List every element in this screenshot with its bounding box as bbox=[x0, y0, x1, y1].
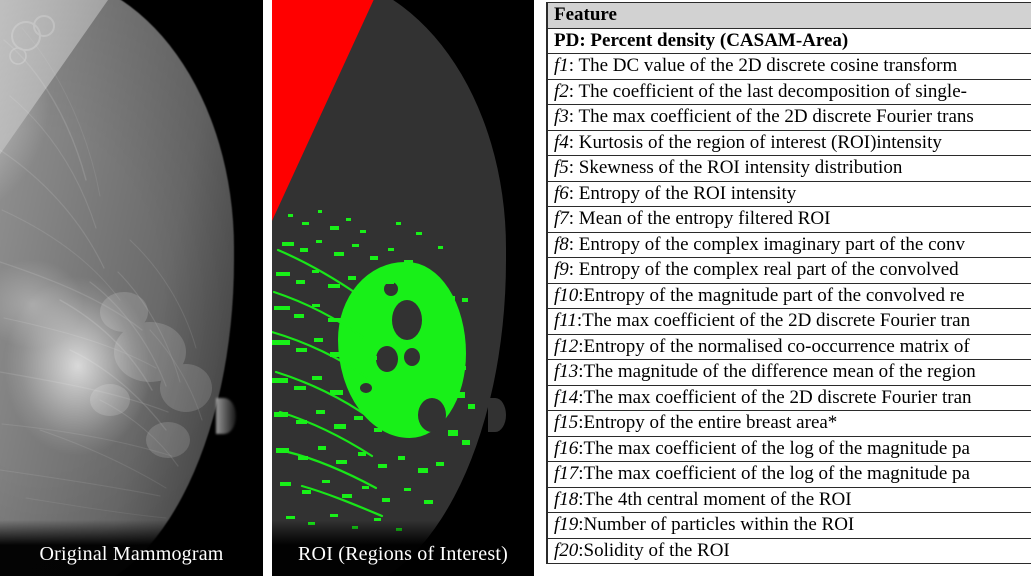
feature-table-body: PD: Percent density (CASAM-Area)f1: The … bbox=[547, 28, 1031, 564]
feature-id-f14: f14 bbox=[554, 387, 578, 408]
feature-cell-f16: f16:The max coefficient of the log of th… bbox=[547, 436, 1031, 462]
feature-id-f18: f18 bbox=[554, 489, 578, 510]
feature-cell-f14: f14:The max coefficient of the 2D discre… bbox=[547, 385, 1031, 411]
feature-cell-f13: f13:The magnitude of the difference mean… bbox=[547, 360, 1031, 386]
fibroglandular-texture-overlay bbox=[0, 0, 263, 576]
feature-id-f1: f1 bbox=[554, 55, 569, 76]
feature-description-f17: :The max coefficient of the log of the m… bbox=[578, 463, 970, 484]
table-row: f6: Entropy of the ROI intensity bbox=[547, 181, 1031, 207]
table-row: f9: Entropy of the complex real part of … bbox=[547, 258, 1031, 284]
column-header-feature: Feature bbox=[547, 3, 1031, 29]
table-header-row: Feature bbox=[547, 3, 1031, 29]
feature-cell-f20: f20:Solidity of the ROI bbox=[547, 538, 1031, 564]
feature-description-f11: :The max coefficient of the 2D discrete … bbox=[577, 310, 970, 331]
table-row: f14:The max coefficient of the 2D discre… bbox=[547, 385, 1031, 411]
feature-id-f3: f3 bbox=[554, 106, 569, 127]
feature-id-f13: f13 bbox=[554, 361, 578, 382]
table-row: PD: Percent density (CASAM-Area) bbox=[547, 28, 1031, 54]
table-row: f18:The 4th central moment of the ROI bbox=[547, 487, 1031, 513]
table-row: f20:Solidity of the ROI bbox=[547, 538, 1031, 564]
feature-id-f20: f20 bbox=[554, 540, 578, 561]
feature-description-f4: : Kurtosis of the region of interest (RO… bbox=[569, 132, 942, 153]
table-row: f15:Entropy of the entire breast area* bbox=[547, 411, 1031, 437]
feature-description-f1: : The DC value of the 2D discrete cosine… bbox=[569, 55, 958, 76]
panel-original-mammogram: Original Mammogram bbox=[0, 0, 263, 576]
feature-description-f3: : The max coefficient of the 2D discrete… bbox=[569, 106, 974, 127]
feature-description-f7: : Mean of the entropy filtered ROI bbox=[569, 208, 831, 229]
table-row: f4: Kurtosis of the region of interest (… bbox=[547, 130, 1031, 156]
feature-id-f6: f6 bbox=[554, 183, 569, 204]
feature-description-f14: :The max coefficient of the 2D discrete … bbox=[578, 387, 971, 408]
feature-description-f16: :The max coefficient of the log of the m… bbox=[578, 438, 970, 459]
feature-id-f9: f9 bbox=[554, 259, 569, 280]
table-row: f19:Number of particles within the ROI bbox=[547, 513, 1031, 539]
table-row: f16:The max coefficient of the log of th… bbox=[547, 436, 1031, 462]
feature-cell-f9: f9: Entropy of the complex real part of … bbox=[547, 258, 1031, 284]
feature-cell-f11: f11:The max coefficient of the 2D discre… bbox=[547, 309, 1031, 335]
feature-id-f2: f2 bbox=[554, 81, 569, 102]
feature-id-f11: f11 bbox=[554, 310, 577, 331]
feature-cell-f12: f12:Entropy of the normalised co-occurre… bbox=[547, 334, 1031, 360]
feature-cell-PD: PD: Percent density (CASAM-Area) bbox=[547, 28, 1031, 54]
feature-description-f15: :Entropy of the entire breast area* bbox=[578, 412, 837, 433]
feature-description-f19: :Number of particles within the ROI bbox=[578, 514, 854, 535]
feature-id-f5: f5 bbox=[554, 157, 569, 178]
feature-cell-f10: f10:Entropy of the magnitude part of the… bbox=[547, 283, 1031, 309]
feature-id-f7: f7 bbox=[554, 208, 569, 229]
table-row: f7: Mean of the entropy filtered ROI bbox=[547, 207, 1031, 233]
feature-cell-f2: f2: The coefficient of the last decompos… bbox=[547, 79, 1031, 105]
feature-description-f12: :Entropy of the normalised co-occurrence… bbox=[578, 336, 969, 357]
feature-cell-f1: f1: The DC value of the 2D discrete cosi… bbox=[547, 54, 1031, 80]
table-row: f1: The DC value of the 2D discrete cosi… bbox=[547, 54, 1031, 80]
caption-original-mammogram: Original Mammogram bbox=[0, 542, 263, 566]
feature-cell-f15: f15:Entropy of the entire breast area* bbox=[547, 411, 1031, 437]
table-row: f3: The max coefficient of the 2D discre… bbox=[547, 105, 1031, 131]
figure-page: Original Mammogram bbox=[0, 0, 1031, 576]
feature-description-f10: :Entropy of the magnitude part of the co… bbox=[578, 285, 964, 306]
feature-cell-f19: f19:Number of particles within the ROI bbox=[547, 513, 1031, 539]
feature-id-f17: f17 bbox=[554, 463, 578, 484]
feature-id-f16: f16 bbox=[554, 438, 578, 459]
feature-id-f19: f19 bbox=[554, 514, 578, 535]
table-row: f13:The magnitude of the difference mean… bbox=[547, 360, 1031, 386]
feature-cell-f7: f7: Mean of the entropy filtered ROI bbox=[547, 207, 1031, 233]
table-row: f11:The max coefficient of the 2D discre… bbox=[547, 309, 1031, 335]
feature-table: Feature PD: Percent density (CASAM-Area)… bbox=[546, 2, 1031, 564]
feature-description-f18: :The 4th central moment of the ROI bbox=[578, 489, 851, 510]
table-row: f10:Entropy of the magnitude part of the… bbox=[547, 283, 1031, 309]
table-row: f8: Entropy of the complex imaginary par… bbox=[547, 232, 1031, 258]
feature-description-f20: :Solidity of the ROI bbox=[578, 540, 729, 561]
feature-cell-f3: f3: The max coefficient of the 2D discre… bbox=[547, 105, 1031, 131]
mammogram-image bbox=[0, 0, 263, 576]
feature-cell-f18: f18:The 4th central moment of the ROI bbox=[547, 487, 1031, 513]
feature-id-f8: f8 bbox=[554, 234, 569, 255]
feature-description-f5: : Skewness of the ROI intensity distribu… bbox=[569, 157, 903, 178]
feature-cell-f6: f6: Entropy of the ROI intensity bbox=[547, 181, 1031, 207]
feature-description-f6: : Entropy of the ROI intensity bbox=[569, 183, 796, 204]
feature-description-f9: : Entropy of the complex real part of th… bbox=[569, 259, 959, 280]
feature-description-f13: :The magnitude of the difference mean of… bbox=[578, 361, 975, 382]
roi-speckle-overlay bbox=[272, 0, 534, 576]
feature-cell-f8: f8: Entropy of the complex imaginary par… bbox=[547, 232, 1031, 258]
table-row: f5: Skewness of the ROI intensity distri… bbox=[547, 156, 1031, 182]
table-row: f12:Entropy of the normalised co-occurre… bbox=[547, 334, 1031, 360]
feature-id-f12: f12 bbox=[554, 336, 578, 357]
roi-image bbox=[272, 0, 534, 576]
feature-cell-f4: f4: Kurtosis of the region of interest (… bbox=[547, 130, 1031, 156]
feature-description-f2: : The coefficient of the last decomposit… bbox=[569, 81, 967, 102]
table-row: f2: The coefficient of the last decompos… bbox=[547, 79, 1031, 105]
feature-cell-f17: f17:The max coefficient of the log of th… bbox=[547, 462, 1031, 488]
feature-id-f10: f10 bbox=[554, 285, 578, 306]
feature-cell-f5: f5: Skewness of the ROI intensity distri… bbox=[547, 156, 1031, 182]
feature-id-f4: f4 bbox=[554, 132, 569, 153]
panel-roi: ROI (Regions of Interest) bbox=[272, 0, 534, 576]
table-row: f17:The max coefficient of the log of th… bbox=[547, 462, 1031, 488]
feature-table-head: Feature bbox=[547, 3, 1031, 29]
feature-id-f15: f15 bbox=[554, 412, 578, 433]
caption-roi: ROI (Regions of Interest) bbox=[272, 542, 534, 566]
feature-description-f8: : Entropy of the complex imaginary part … bbox=[569, 234, 965, 255]
